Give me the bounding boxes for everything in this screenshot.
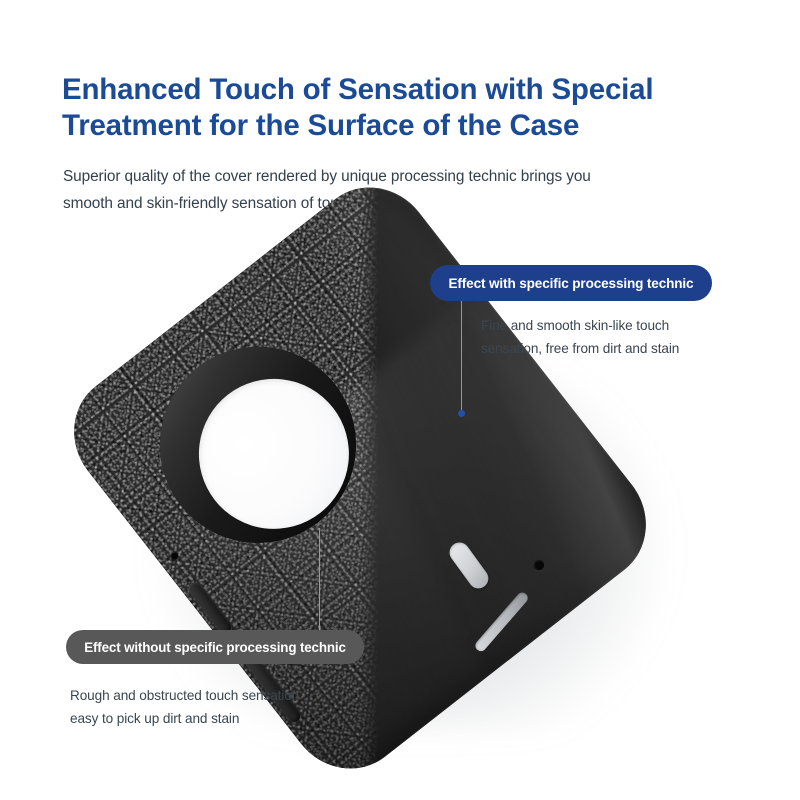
page-title: Enhanced Touch of Sensation with Special… [62,72,722,144]
camera-cutout-opening [169,349,380,560]
case-drop-shadow [150,330,670,730]
callout-leader-line-without-technic [319,528,320,630]
charging-port-slot [446,539,493,593]
product-feature-slide: Enhanced Touch of Sensation with Special… [0,0,800,800]
side-hole [169,550,180,561]
camera-cutout-ring [120,307,395,582]
callout-description-without-technic: Rough and obstructed touch sensation , e… [70,684,330,730]
speaker-slot [473,590,530,653]
side-button-cutout-upper [186,580,234,637]
callout-badge-without-technic: Effect without specific processing techn… [66,630,364,664]
page-subtitle: Superior quality of the cover rendered b… [63,163,723,217]
camera-cutout-wall [120,307,395,582]
callout-marker-dot-with-technic [458,410,465,417]
callout-description-with-technic: Fine and smooth skin-like touch sensatio… [481,314,731,360]
microphone-hole [531,557,546,572]
callout-badge-with-technic: Effect with specific processing technic [430,265,712,301]
callout-leader-line-with-technic [461,301,462,415]
